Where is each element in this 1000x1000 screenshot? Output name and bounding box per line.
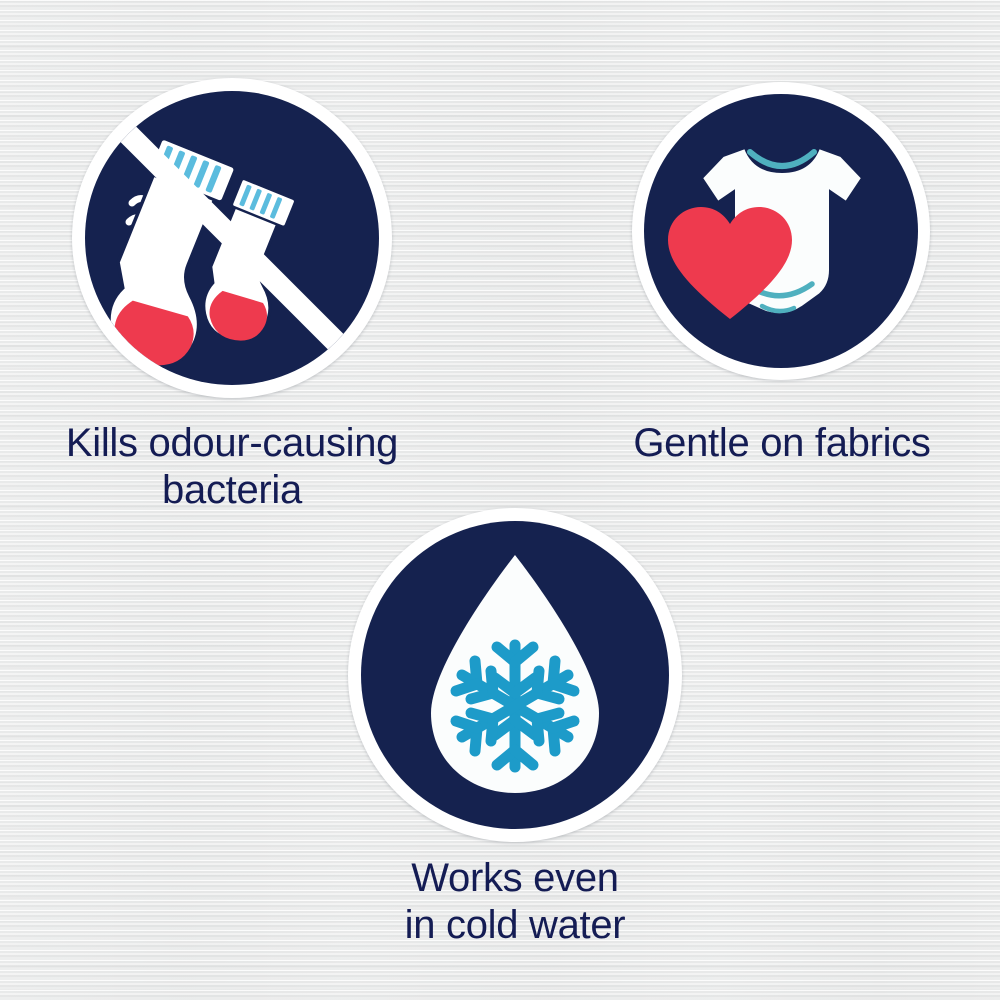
no-smelly-socks-icon bbox=[85, 91, 379, 385]
benefit-badge-odour[interactable] bbox=[72, 78, 392, 398]
badge-disc-fabric bbox=[644, 94, 918, 368]
benefit-badge-cold[interactable] bbox=[348, 508, 682, 842]
badge-disc-odour bbox=[85, 91, 379, 385]
badge-disc-cold bbox=[361, 521, 669, 829]
benefit-caption-odour: Kills odour-causing bacteria bbox=[10, 420, 454, 514]
water-drop-snowflake-icon bbox=[361, 521, 669, 829]
benefit-badge-fabric[interactable] bbox=[632, 82, 930, 380]
benefit-caption-cold: Works even in cold water bbox=[345, 855, 685, 949]
baby-onesie-heart-icon bbox=[644, 94, 918, 368]
benefit-caption-fabric: Gentle on fabrics bbox=[610, 420, 954, 467]
benefits-panel: Kills odour-causing bacteria Gentle on f… bbox=[0, 0, 1000, 1000]
